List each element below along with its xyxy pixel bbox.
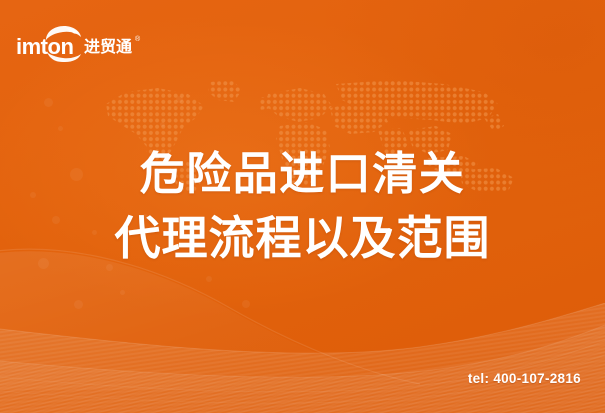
contact-telephone: tel: 400-107-2816	[468, 371, 581, 386]
headline-line-1: 危险品进口清关	[0, 142, 605, 206]
registered-trademark-icon: ®	[135, 35, 141, 43]
headline: 危险品进口清关 代理流程以及范围	[0, 142, 605, 270]
brand-logo[interactable]: imton 进贸通 ®	[16, 22, 146, 68]
promotional-banner: imton 进贸通 ® 危险品进口清关 代理流程以及范围 tel: 400-10…	[0, 0, 605, 413]
logo-chinese-text: 进贸通	[84, 37, 132, 56]
headline-line-2: 代理流程以及范围	[0, 206, 605, 270]
logo-latin-text: imton	[16, 34, 73, 59]
